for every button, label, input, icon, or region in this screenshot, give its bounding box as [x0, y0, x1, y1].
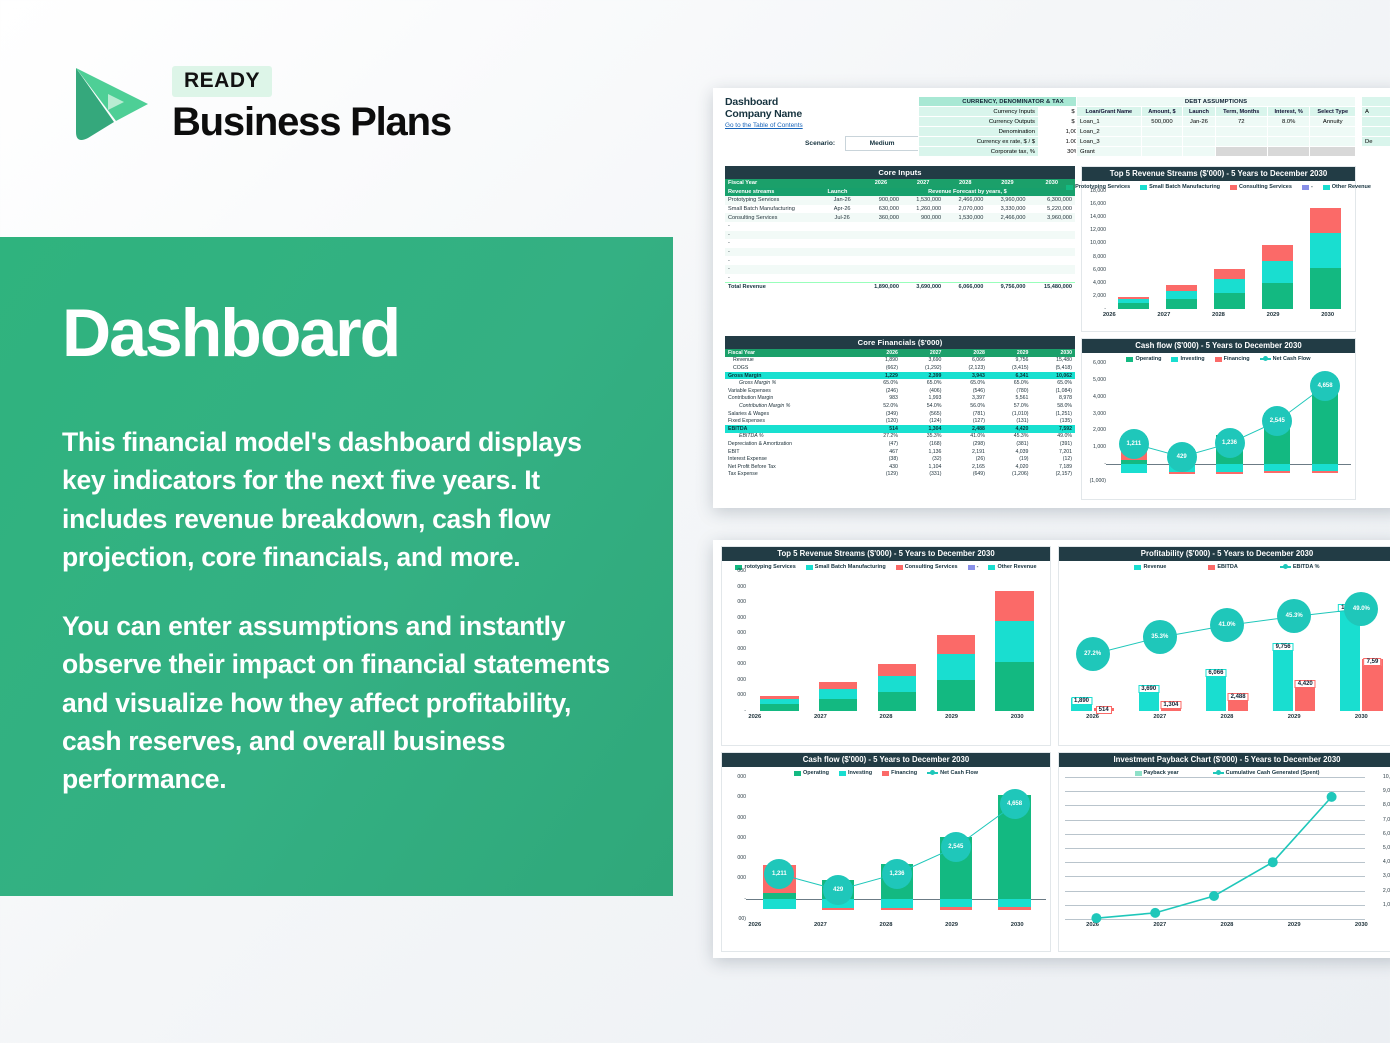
revenue-stream-name[interactable]: - — [725, 248, 824, 257]
financial-row-label: Interest Expense — [725, 455, 861, 463]
revenue-value[interactable] — [944, 248, 986, 257]
legend-item: Financing — [1215, 356, 1250, 362]
debt-cell[interactable] — [1183, 137, 1215, 147]
revenue-value[interactable] — [860, 231, 902, 240]
financial-value: 1,136 — [901, 448, 945, 456]
scenario-selector[interactable]: Scenario: Medium — [805, 136, 919, 151]
revenue-stream-launch[interactable] — [824, 274, 859, 283]
financial-value: 65.0% — [901, 379, 945, 387]
revenue-value[interactable] — [986, 256, 1028, 265]
x-tick-label: 2028 — [1201, 312, 1236, 318]
financial-value: 2,191 — [944, 448, 988, 456]
debt-cell[interactable] — [1215, 147, 1267, 157]
debt-cell[interactable] — [1267, 137, 1310, 147]
revenue-value[interactable] — [860, 265, 902, 274]
revenue-value[interactable] — [860, 222, 902, 231]
financial-value: 3,943 — [944, 372, 988, 380]
revenue-value[interactable]: 2,070,000 — [944, 205, 986, 214]
debt-column-header: Loan/Grant Name — [1077, 107, 1142, 117]
financial-value: (3,415) — [988, 364, 1032, 372]
x-tick-label: 2026 — [1071, 922, 1115, 928]
cumulative-cash-line — [1059, 777, 1390, 919]
legend-swatch — [1140, 185, 1147, 190]
debt-cell[interactable] — [1183, 127, 1215, 137]
y-tick-label: 10,000 — [1090, 240, 1106, 246]
legend-swatch — [1066, 185, 1073, 190]
legend-label: Operating — [803, 770, 829, 776]
revenue-stream-name[interactable]: - — [725, 222, 824, 231]
bar-group — [1214, 191, 1245, 309]
debt-cell: Loan_2 — [1077, 127, 1142, 137]
revenue-value[interactable]: 1,260,000 — [902, 205, 944, 214]
debt-cell[interactable]: 500,000 — [1141, 117, 1182, 127]
revenue-stream-name[interactable]: - — [725, 274, 824, 283]
debt-cell[interactable] — [1215, 137, 1267, 147]
y-tick-label: 14,000 — [1090, 214, 1106, 220]
revenue-value[interactable] — [1029, 265, 1075, 274]
grid-line — [1065, 919, 1365, 920]
bar-segment — [995, 662, 1033, 711]
x-tick-label: 2027 — [1146, 312, 1181, 318]
bar-group — [1118, 191, 1149, 309]
revenue-value[interactable] — [986, 265, 1028, 274]
revenue-stream-launch[interactable]: Jul-26 — [824, 213, 859, 222]
bar-group — [1262, 191, 1293, 309]
financial-value: 2,399 — [901, 372, 945, 380]
revenue-stream-name[interactable]: Prototyping Services — [725, 196, 824, 205]
debt-cell[interactable] — [1310, 137, 1356, 147]
financial-value: 27.2% — [861, 433, 901, 441]
total-revenue-value: 9,756,000 — [986, 282, 1028, 291]
financial-row-label: Tax Expense — [725, 471, 861, 479]
legend-label: Small Batch Manufacturing — [815, 564, 886, 570]
table-row: Interest Expense(38)(32)(26)(19)(12) — [725, 455, 1075, 463]
revenue-stream-name[interactable]: - — [725, 256, 824, 265]
scenario-value[interactable]: Medium — [845, 136, 919, 151]
revenue-stream-launch[interactable] — [824, 265, 859, 274]
debt-cell[interactable] — [1141, 137, 1182, 147]
financial-value: (381) — [988, 440, 1032, 448]
data-point-bubble: 4,658 — [1000, 789, 1030, 819]
legend-swatch — [927, 772, 938, 774]
financial-value: 3,690 — [901, 357, 945, 365]
data-point-marker — [1327, 792, 1337, 802]
financial-value: (12) — [1031, 455, 1075, 463]
legend-item: - — [968, 564, 979, 570]
x-tick-label: 2029 — [1255, 312, 1290, 318]
bar-segment — [1262, 245, 1293, 261]
legend-item: Investing — [1171, 356, 1204, 362]
table-row: Loan_3 — [1077, 137, 1356, 147]
financial-value: 430 — [861, 463, 901, 471]
legend-item: Financing — [882, 770, 917, 776]
legend-label: Net Cash Flow — [1273, 356, 1311, 362]
currency-row-label: Denomination — [919, 127, 1039, 137]
chart-title: Profitability ($'000) - 5 Years to Decem… — [1059, 547, 1390, 561]
debt-cell[interactable] — [1267, 127, 1310, 137]
x-tick-label: 2027 — [1138, 922, 1182, 928]
legend-swatch — [1135, 771, 1142, 776]
financial-value: 7,201 — [1031, 448, 1075, 456]
revenue-value[interactable] — [902, 222, 944, 231]
chart-legend: OperatingInvestingFinancingNet Cash Flow — [1082, 353, 1355, 363]
data-point-bubble: 1,236 — [1215, 428, 1245, 458]
debt-cell[interactable]: Jan-26 — [1183, 117, 1215, 127]
legend-item: Other Revenue — [988, 564, 1036, 570]
x-tick-label: 2027 — [799, 922, 842, 928]
revenue-stream-name[interactable]: - — [725, 231, 824, 240]
revenue-value[interactable] — [902, 239, 944, 248]
financial-value: 983 — [861, 395, 901, 403]
bar-segment — [1310, 268, 1341, 309]
financial-value: 6,066 — [944, 357, 988, 365]
x-tick-label: 2029 — [930, 714, 973, 720]
table-row: Prototyping ServicesJan-26900,0001,530,0… — [725, 196, 1075, 205]
chart-title: Cash flow ($'000) - 5 Years to December … — [722, 753, 1050, 767]
financial-value: 4,420 — [988, 425, 1032, 433]
revenue-value[interactable] — [1029, 222, 1075, 231]
revenue-value[interactable]: 1,530,000 — [944, 213, 986, 222]
chart-x-axis: 20262027202820292030 — [722, 919, 1050, 928]
year-header: 2029 — [986, 179, 1028, 188]
financial-row-label: Contribution Margin — [725, 395, 861, 403]
hero-panel: Dashboard This financial model's dashboa… — [0, 237, 673, 896]
financial-value: (38) — [861, 455, 901, 463]
y-tick-label: 8,000 — [1093, 254, 1106, 260]
debt-table-title: DEBT ASSUMPTIONS — [1077, 97, 1356, 107]
revenue-stream-name[interactable]: - — [725, 239, 824, 248]
debt-cell[interactable] — [1267, 147, 1310, 157]
financial-value: (131) — [988, 417, 1032, 425]
revenue-value[interactable] — [902, 231, 944, 240]
revenue-value[interactable]: 3,330,000 — [986, 205, 1028, 214]
revenue-value[interactable] — [986, 231, 1028, 240]
chart-title: Top 5 Revenue Streams ($'000) - 5 Years … — [1082, 167, 1355, 181]
financial-value: 58.0% — [1031, 402, 1075, 410]
financial-value: 8,978 — [1031, 395, 1075, 403]
revenue-value[interactable] — [902, 248, 944, 257]
financial-value: (168) — [901, 440, 945, 448]
financial-value: (47) — [861, 440, 901, 448]
financial-value: (19) — [988, 455, 1032, 463]
financial-value: 52.0% — [861, 402, 901, 410]
legend-item: EBITDA — [1208, 564, 1237, 570]
revenue-value[interactable] — [986, 248, 1028, 257]
revenue-value[interactable] — [902, 274, 944, 283]
financial-value: 4,020 — [988, 463, 1032, 471]
debt-cell[interactable]: 8.0% — [1267, 117, 1310, 127]
financial-row-label: Fixed Expenses — [725, 417, 861, 425]
debt-cell[interactable] — [1310, 147, 1356, 157]
y-tick-label: 6,000 — [1093, 267, 1106, 273]
financial-value: (1,084) — [1031, 387, 1075, 395]
legend-item: Payback year — [1135, 770, 1179, 776]
revenue-stream-name[interactable]: - — [725, 265, 824, 274]
bar-group — [819, 571, 857, 711]
chart-cash-flow-bottom: Cash flow ($'000) - 5 Years to December … — [721, 752, 1051, 952]
data-point-bubble: 27.2% — [1076, 637, 1110, 671]
debt-cell[interactable] — [1183, 147, 1215, 157]
total-revenue-value: 1,890,000 — [860, 282, 902, 291]
financial-value: (127) — [944, 417, 988, 425]
core-financials-banner: Core Financials ($'000) — [725, 336, 1075, 349]
revenue-value[interactable] — [944, 239, 986, 248]
brand-name: Business Plans — [172, 101, 451, 143]
bar-segment — [995, 621, 1033, 662]
year-header: 2027 — [901, 349, 945, 357]
play-triangle-logo-icon — [62, 58, 154, 150]
debt-cell[interactable] — [1215, 127, 1267, 137]
revenue-value[interactable]: 2,466,000 — [986, 213, 1028, 222]
debt-cell[interactable]: 72 — [1215, 117, 1267, 127]
revenue-value[interactable] — [902, 265, 944, 274]
revenue-value[interactable] — [944, 256, 986, 265]
financial-value: 56.0% — [944, 402, 988, 410]
financial-value: 45.3% — [988, 433, 1032, 441]
revenue-stream-name[interactable]: Small Batch Manufacturing — [725, 205, 824, 214]
financial-row-label: Net Profit Before Tax — [725, 463, 861, 471]
revenue-value[interactable]: 360,000 — [860, 213, 902, 222]
financial-value: (331) — [901, 471, 945, 479]
data-point-marker — [1091, 913, 1101, 923]
y-tick-label: - — [744, 708, 746, 714]
financial-value: 9,756 — [988, 357, 1032, 365]
revenue-value[interactable] — [1029, 274, 1075, 283]
chart-investment-payback: Investment Payback Chart ($'000) - 5 Yea… — [1058, 752, 1390, 952]
table-row: Contribution Margin9831,9933,3975,5618,9… — [725, 395, 1075, 403]
debt-column-header: Interest, % — [1267, 107, 1310, 117]
y-tick-label: 000 — [737, 692, 746, 698]
total-revenue-label: Total Revenue — [725, 282, 860, 291]
revenue-value[interactable] — [860, 274, 902, 283]
chart-legend: OperatingInvestingFinancingNet Cash Flow — [722, 767, 1050, 777]
revenue-stream-launch[interactable]: Apr-26 — [824, 205, 859, 214]
chart-title: Cash flow ($'000) - 5 Years to December … — [1082, 339, 1355, 353]
revenue-value[interactable] — [986, 274, 1028, 283]
legend-label: - — [977, 564, 979, 570]
revenue-value[interactable] — [944, 274, 986, 283]
revenue-value[interactable]: 3,960,000 — [1029, 213, 1075, 222]
core-inputs-banner: Core Inputs — [725, 166, 1075, 179]
data-point-bubble: 1,211 — [1119, 429, 1149, 459]
legend-swatch — [1213, 772, 1224, 774]
chart-x-axis: 20262027202820292030 — [1082, 309, 1355, 318]
chart-revenue-streams-bottom: Top 5 Revenue Streams ($'000) - 5 Years … — [721, 546, 1051, 746]
y-tick-label: 000 — [737, 646, 746, 652]
revenue-value[interactable] — [1029, 256, 1075, 265]
table-row: Net Profit Before Tax4301,1042,1654,0207… — [725, 463, 1075, 471]
year-header: 2028 — [944, 179, 986, 188]
bar-segment — [1118, 303, 1149, 309]
x-tick-label: 2028 — [865, 714, 908, 720]
financial-value: 65.0% — [1031, 379, 1075, 387]
year-header: 2030 — [1031, 349, 1075, 357]
y-tick-label: 000 — [737, 584, 746, 590]
revenue-value[interactable]: 2,466,000 — [944, 196, 986, 205]
financial-value: 7,189 — [1031, 463, 1075, 471]
y-tick-label: 000 — [737, 630, 746, 636]
legend-item: Consulting Services — [1230, 184, 1292, 190]
revenue-stream-name[interactable]: Consulting Services — [725, 213, 824, 222]
revenue-value[interactable] — [860, 256, 902, 265]
bar-segment — [937, 680, 975, 711]
bar-segment — [878, 692, 916, 711]
financial-row-label: Salaries & Wages — [725, 410, 861, 418]
legend-label: Other Revenue — [997, 564, 1036, 570]
revenue-stream-launch[interactable] — [824, 248, 859, 257]
table-row: Small Batch ManufacturingApr-26630,0001,… — [725, 205, 1075, 214]
financial-value: 4,039 — [988, 448, 1032, 456]
revenue-value[interactable] — [1029, 248, 1075, 257]
y-tick-label: 4,000 — [1093, 280, 1106, 286]
company-name: Company Name — [725, 108, 803, 120]
revenue-stream-launch[interactable]: Jan-26 — [824, 196, 859, 205]
financial-value: (1,292) — [901, 364, 945, 372]
table-row: Loan_1500,000Jan-26728.0%Annuity — [1077, 117, 1356, 127]
financial-value: (124) — [901, 417, 945, 425]
revenue-streams-header-row: Revenue streamsLaunchRevenue Forecast by… — [725, 188, 1075, 197]
chart-x-axis: 20262027202820292030 — [722, 711, 1050, 720]
table-row: Contribution Margin %52.0%54.0%56.0%57.0… — [725, 402, 1075, 410]
legend-label: Small Batch Manufacturing — [1149, 184, 1220, 190]
data-point-bubble: 429 — [823, 875, 853, 905]
x-tick-label: 2029 — [1272, 922, 1316, 928]
financial-value: (32) — [901, 455, 945, 463]
financial-value: 65.0% — [861, 379, 901, 387]
table-row: - — [725, 256, 1075, 265]
bar-segment — [937, 635, 975, 654]
revenue-value[interactable] — [902, 256, 944, 265]
legend-label: Investing — [1180, 356, 1204, 362]
currency-row-label: Currency Inputs — [919, 107, 1039, 117]
legend-swatch — [839, 771, 846, 776]
debt-cell[interactable] — [1141, 147, 1182, 157]
financial-row-label: Contribution Margin % — [725, 402, 861, 410]
legend-item: Small Batch Manufacturing — [1140, 184, 1220, 190]
financial-value: (662) — [861, 364, 901, 372]
revenue-value[interactable] — [944, 265, 986, 274]
revenue-value[interactable]: 630,000 — [860, 205, 902, 214]
bar-segment — [1214, 269, 1245, 279]
table-row: - — [725, 274, 1075, 283]
debt-column-header: Amount, $ — [1141, 107, 1182, 117]
financial-value: 514 — [861, 425, 901, 433]
revenue-value[interactable] — [1029, 231, 1075, 240]
revenue-value[interactable]: 1,530,000 — [902, 196, 944, 205]
chart-legend: Payback yearCumulative Cash Generated (S… — [1059, 767, 1390, 777]
legend-swatch — [1171, 357, 1178, 362]
revenue-value[interactable] — [860, 239, 902, 248]
legend-item: Consulting Services — [896, 564, 958, 570]
revenue-value[interactable]: 5,220,000 — [1029, 205, 1075, 214]
legend-swatch — [882, 771, 889, 776]
bar-segment — [1262, 261, 1293, 283]
financial-row-label: Revenue — [725, 357, 861, 365]
revenue-stream-launch[interactable] — [824, 231, 859, 240]
revenue-value[interactable] — [944, 231, 986, 240]
revenue-value[interactable]: 6,300,000 — [1029, 196, 1075, 205]
bar-segment — [1310, 208, 1341, 234]
x-tick-label: 2028 — [865, 922, 908, 928]
chart-title: Top 5 Revenue Streams ($'000) - 5 Years … — [722, 547, 1050, 561]
year-header: 2026 — [860, 179, 902, 188]
table-row: - — [725, 231, 1075, 240]
fiscal-year-label: Fiscal Year — [725, 349, 861, 357]
core-financials-table: Fiscal Year20262027202820292030 Revenue1… — [725, 349, 1075, 478]
revenue-stream-launch[interactable] — [824, 256, 859, 265]
table-row: EBIT4671,1362,1914,0397,201 — [725, 448, 1075, 456]
debt-cell: Grant — [1077, 147, 1142, 157]
debt-cell[interactable] — [1310, 127, 1356, 137]
y-tick-label: 000 — [737, 661, 746, 667]
table-row: Salaries & Wages(349)(565)(781)(1,010)(1… — [725, 410, 1075, 418]
x-tick-label: 2030 — [996, 714, 1039, 720]
revenue-value[interactable]: 3,960,000 — [986, 196, 1028, 205]
table-row: - — [725, 222, 1075, 231]
x-tick-label: 2026 — [733, 922, 776, 928]
legend-item: Net Cash Flow — [927, 770, 978, 776]
bar-segment — [1166, 291, 1197, 299]
bar-segment — [1214, 293, 1245, 309]
y-tick-label: 2,000 — [1093, 293, 1106, 299]
y-tick-label: 12,000 — [1090, 227, 1106, 233]
table-of-contents-link[interactable]: Go to the Table of Contents — [725, 122, 803, 129]
table-row: Tax Expense(129)(331)(649)(1,206)(2,157) — [725, 471, 1075, 479]
financial-value: 65.0% — [944, 379, 988, 387]
currency-row-label: Currency Outputs — [919, 117, 1039, 127]
financial-row-label: Depreciation & Amortization — [725, 440, 861, 448]
bar-segment — [1166, 299, 1197, 309]
revenue-value[interactable] — [1029, 239, 1075, 248]
bar-group — [760, 571, 798, 711]
table-row: Revenue1,8903,6906,0669,75615,480 — [725, 357, 1075, 365]
x-tick-label: 2030 — [996, 922, 1039, 928]
debt-cell[interactable]: Annuity — [1310, 117, 1356, 127]
legend-label: Consulting Services — [905, 564, 958, 570]
revenue-value[interactable] — [986, 222, 1028, 231]
revenue-value[interactable]: 900,000 — [860, 196, 902, 205]
revenue-value[interactable] — [944, 222, 986, 231]
revenue-stream-launch[interactable] — [824, 222, 859, 231]
revenue-stream-launch[interactable] — [824, 239, 859, 248]
revenue-value[interactable] — [860, 248, 902, 257]
legend-swatch — [1215, 357, 1222, 362]
launch-label: Launch — [824, 188, 859, 197]
data-point-bubble: 2,545 — [941, 832, 971, 862]
legend-swatch — [794, 771, 801, 776]
bar-segment — [1262, 283, 1293, 309]
legend-label: Operating — [1135, 356, 1161, 362]
brand-ready-label: READY — [172, 66, 272, 97]
revenue-value[interactable] — [986, 239, 1028, 248]
data-point-marker — [1268, 857, 1278, 867]
data-point-bubble: 41.0% — [1210, 608, 1244, 642]
bar-group — [937, 571, 975, 711]
bar-group — [995, 571, 1033, 711]
legend-item: Cumulative Cash Generated (Spent) — [1213, 770, 1320, 776]
legend-item: Small Batch Manufacturing — [806, 564, 886, 570]
revenue-value[interactable]: 900,000 — [902, 213, 944, 222]
year-header: 2026 — [861, 349, 901, 357]
financial-value: 41.0% — [944, 433, 988, 441]
debt-cell[interactable] — [1141, 127, 1182, 137]
bar-segment — [1310, 233, 1341, 267]
y-tick-label: 16,000 — [1090, 201, 1106, 207]
financial-value: 2,488 — [944, 425, 988, 433]
currency-row-label: Currency ex rate, $ / $ — [919, 137, 1039, 147]
year-header: 2027 — [902, 179, 944, 188]
bar-segment — [819, 689, 857, 699]
